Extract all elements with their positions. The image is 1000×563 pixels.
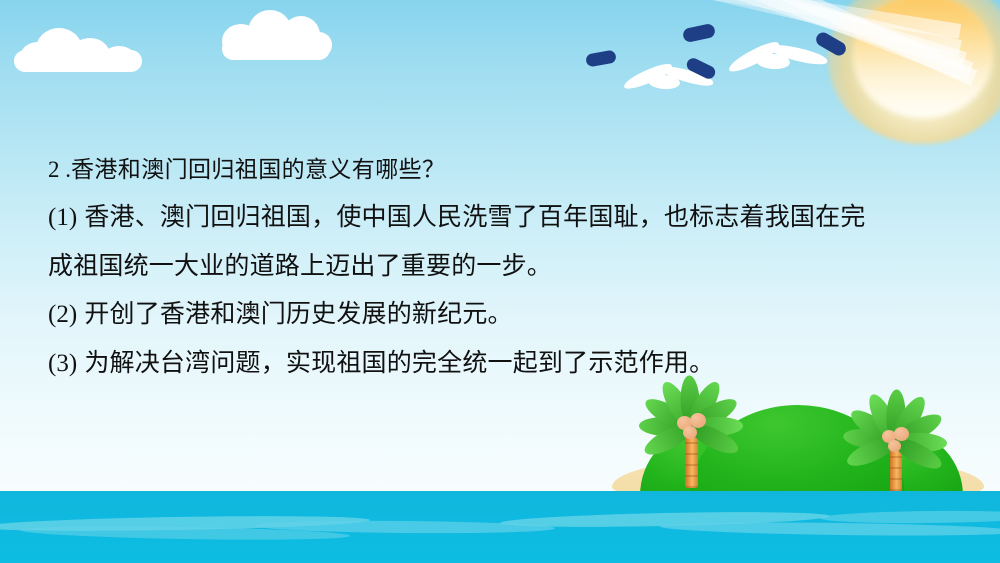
coconut-icon [683,426,697,439]
wave-shape [820,510,1000,524]
item-3-text-line-1: 为解决台湾问题，实现祖国的完全统一起到了示范作用。 [84,349,714,377]
seagull-wingtip-icon [682,23,716,43]
answer-item-3-line-1: (3) 为解决台湾问题，实现祖国的完全统一起到了示范作用。 [48,339,978,388]
palm-tree-icon [633,388,763,488]
wave-shape [660,520,1000,537]
palm-tree-icon [838,400,964,498]
slide-canvas: 2 .香港和澳门回归祖国的意义有哪些？ (1) 香港、澳门回归祖国，使中国人民洗… [0,0,1000,563]
item-2-marker: (2) [48,301,77,328]
item-3-marker: (3) [48,350,77,377]
question-heading: 2 .香港和澳门回归祖国的意义有哪些？ [48,146,978,193]
item-1-text-line-1: 香港、澳门回归祖国，使中国人民洗雪了百年国耻，也标志着我国在完 [84,203,865,231]
heading-text: 香港和澳门回归祖国的意义有哪些？ [71,156,445,182]
cloud-icon [14,24,144,72]
item-1-marker: (1) [48,204,77,231]
answer-item-1-line-1: (1) 香港、澳门回归祖国，使中国人民洗雪了百年国耻，也标志着我国在完 [48,193,978,242]
item-2-text-line-1: 开创了香港和澳门历史发展的新纪元。 [84,300,512,328]
answer-item-2-line-1: (2) 开创了香港和澳门历史发展的新纪元。 [48,290,978,339]
cloud-icon [222,10,330,60]
coconut-icon [888,440,901,452]
ocean-band [0,491,1000,563]
seagull-wingtip-icon [585,49,617,67]
answer-item-1-line-2: 成祖国统一大业的道路上迈出了重要的一步。 [48,242,978,290]
slide-text-content: 2 .香港和澳门回归祖国的意义有哪些？ (1) 香港、澳门回归祖国，使中国人民洗… [48,146,978,388]
item-1-text-line-2: 成祖国统一大业的道路上迈出了重要的一步。 [48,252,552,280]
heading-marker: 2 . [48,157,71,182]
coconut-icon [894,427,909,441]
